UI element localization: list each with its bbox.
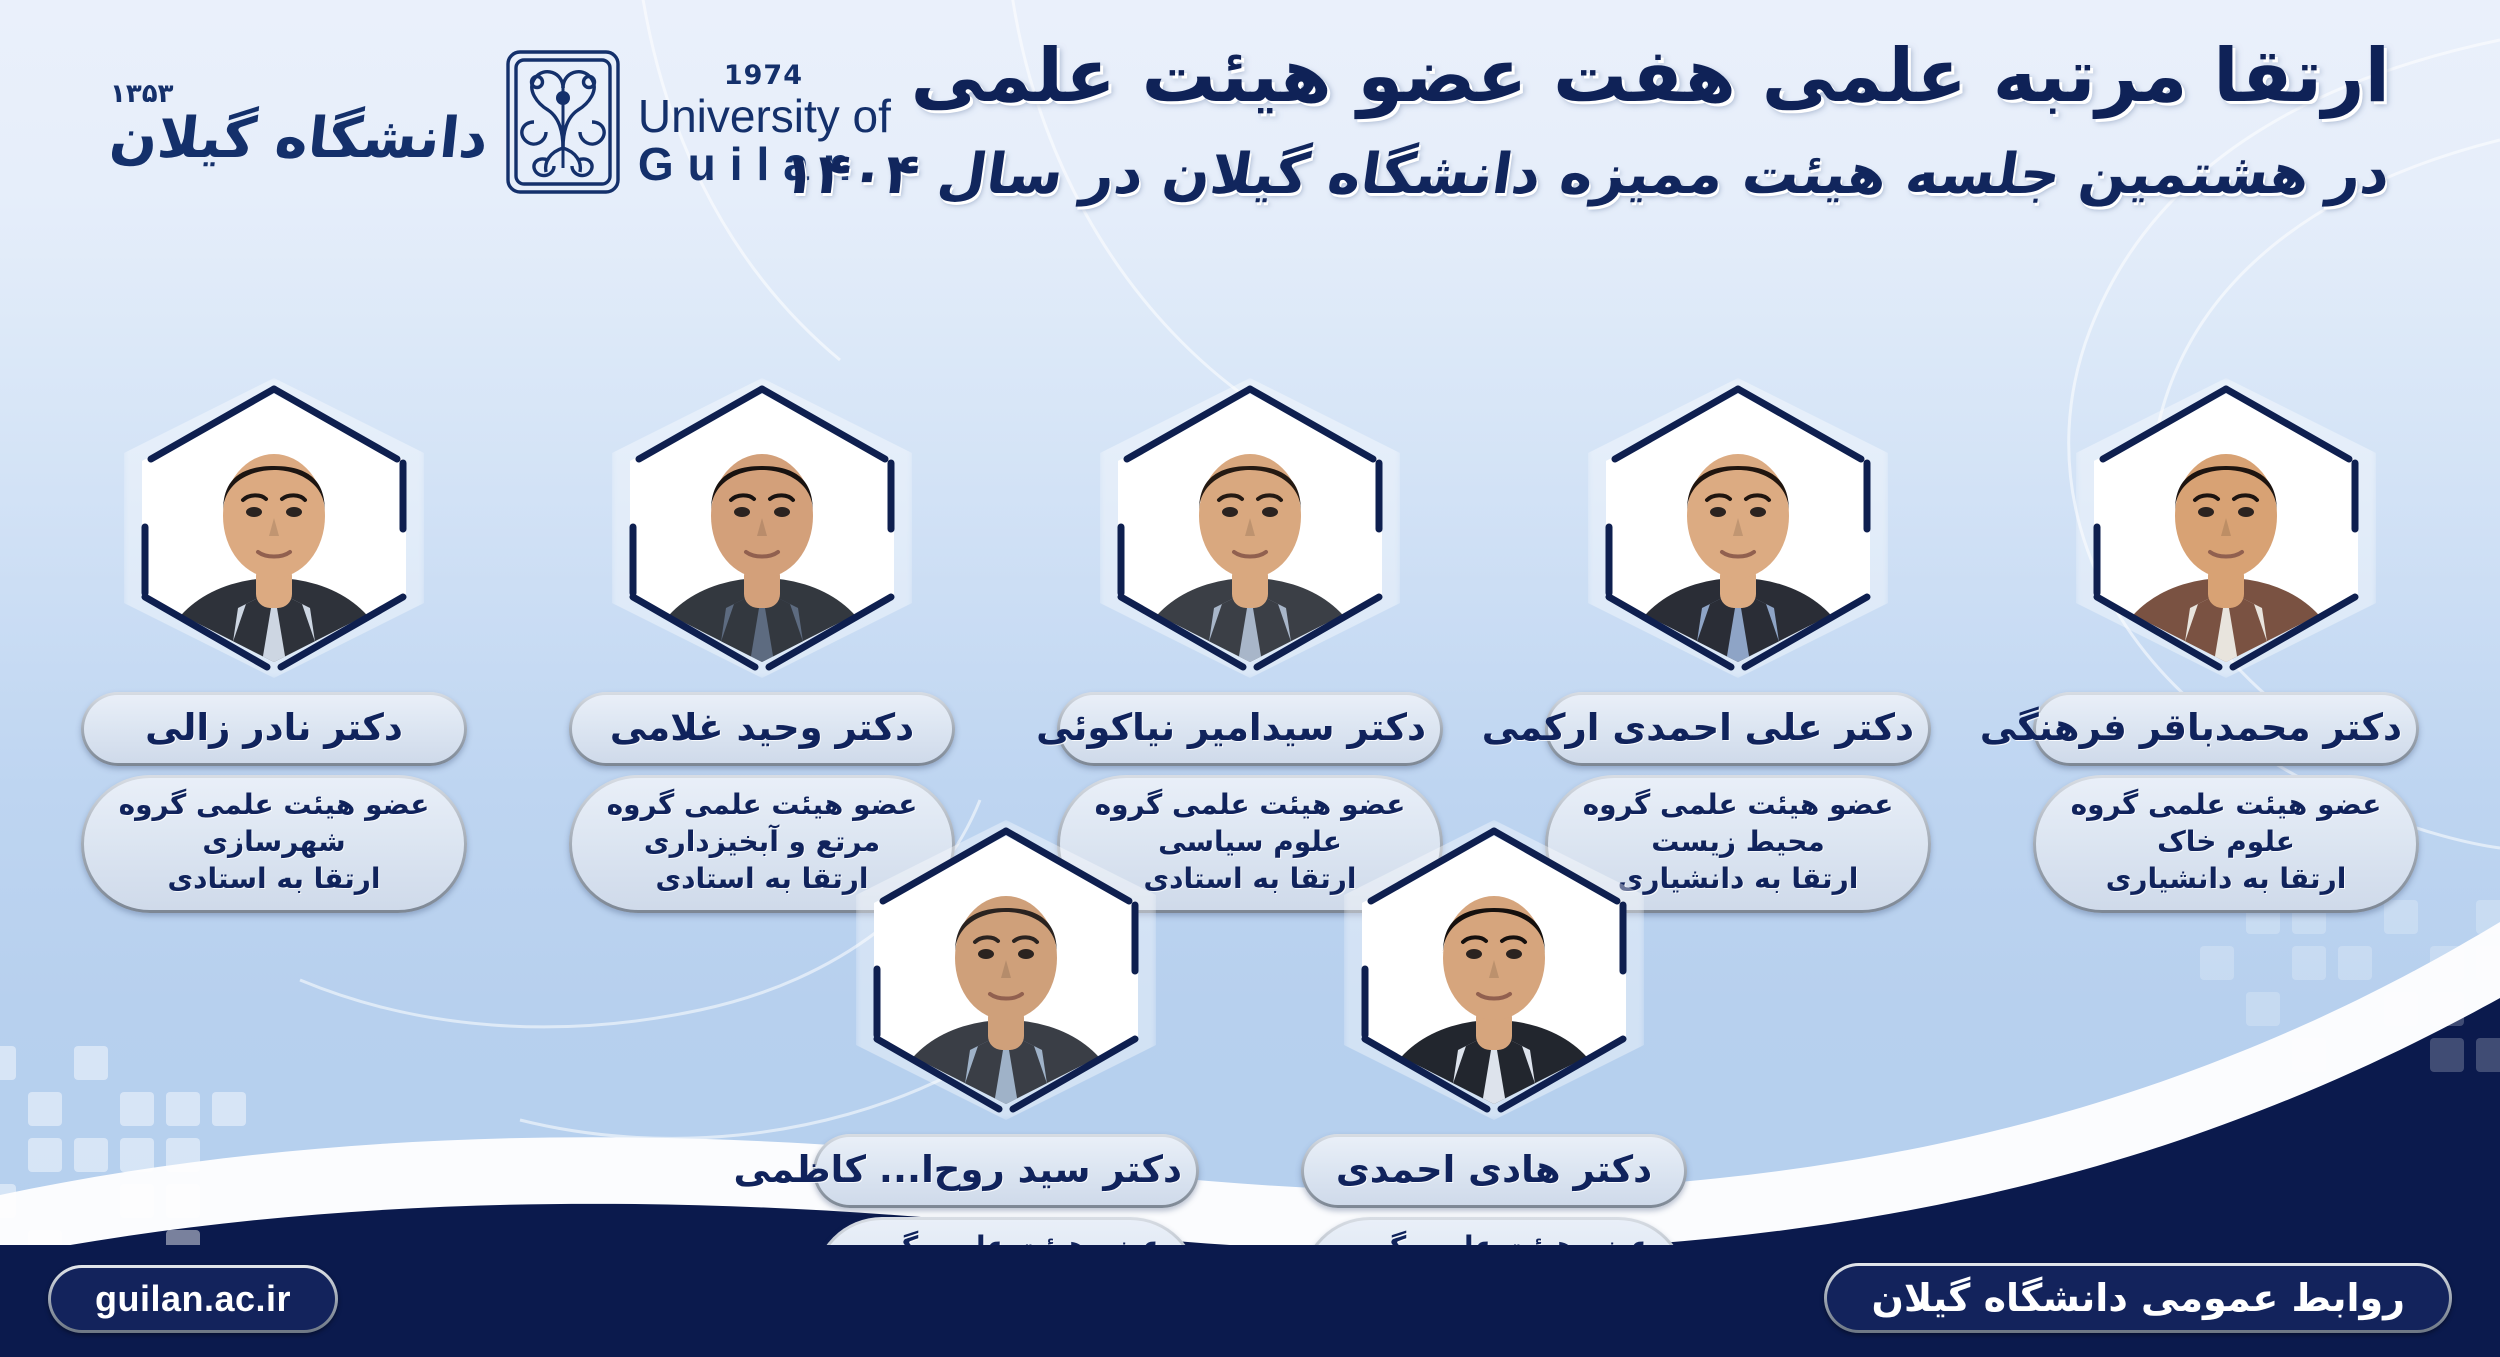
public-relations-label: روابط عمومی دانشگاه گیلان (1827, 1266, 2449, 1330)
name-plate-shell: دکتر وحید غلامی (569, 692, 955, 766)
logo-persian-text: ۱۳۵۳ دانشگاه گیلان (110, 81, 488, 167)
name-plate-shell: دکتر محمدباقر فرهنگی (2033, 692, 2419, 766)
portrait-hexagon (1588, 378, 1888, 678)
website-badge[interactable]: guilan.ac.ir (48, 1265, 338, 1333)
name-plate-shell: دکتر سیدامیر نیاکوئی (1057, 692, 1443, 766)
name-plate-wrap: دکتر وحید غلامی (569, 692, 955, 766)
portrait-hexagon (856, 820, 1156, 1120)
name-plate-wrap: دکتر هادی احمدی (1301, 1134, 1687, 1208)
portrait-hexagon (1100, 378, 1400, 678)
university-logo: 1974 University of Guilan (110, 48, 891, 200)
public-relations-badge[interactable]: روابط عمومی دانشگاه گیلان (1824, 1263, 2452, 1333)
poster-subtitle: در هشتمین جلسه هیئت ممیزه دانشگاه گیلان … (777, 139, 2395, 212)
portrait-hexagon (612, 378, 912, 678)
name-plate-wrap: دکتر علی احمدی ارکمی (1545, 692, 1931, 766)
faculty-name: دکتر محمدباقر فرهنگی (2036, 695, 2416, 763)
poster-title: ارتقا مرتبه علمی هفت عضو هیئت علمی (782, 30, 2390, 123)
faculty-name: دکتر سید روح‌ا... کاظمی (816, 1137, 1196, 1205)
portrait-hexagon (1344, 820, 1644, 1120)
name-plate-shell: دکتر نادر زالی (81, 692, 467, 766)
name-plate-wrap: دکتر نادر زالی (81, 692, 467, 766)
logo-year-fa: ۱۳۵۳ (110, 81, 173, 107)
faculty-name: دکتر علی احمدی ارکمی (1548, 695, 1928, 763)
portrait-hexagon (2076, 378, 2376, 678)
faculty-name: دکتر نادر زالی (84, 695, 464, 763)
guilan-emblem-icon (504, 48, 622, 200)
poster-header: 1974 University of Guilan (0, 0, 2500, 300)
name-plate-wrap: دکتر سید روح‌ا... کاظمی (813, 1134, 1199, 1208)
website-label: guilan.ac.ir (51, 1268, 335, 1330)
name-plate-wrap: دکتر محمدباقر فرهنگی (2033, 692, 2419, 766)
name-plate-shell: دکتر علی احمدی ارکمی (1545, 692, 1931, 766)
portrait-hexagon (124, 378, 424, 678)
faculty-name: دکتر هادی احمدی (1304, 1137, 1684, 1205)
faculty-name: دکتر سیدامیر نیاکوئی (1060, 695, 1440, 763)
poster-canvas: 1974 University of Guilan (0, 0, 2500, 1357)
name-plate-wrap: دکتر سیدامیر نیاکوئی (1057, 692, 1443, 766)
name-plate-shell: دکتر هادی احمدی (1301, 1134, 1687, 1208)
faculty-name: دکتر وحید غلامی (572, 695, 952, 763)
logo-university-name-fa: دانشگاه گیلان (107, 111, 491, 167)
title-block: ارتقا مرتبه علمی هفت عضو هیئت علمی در هش… (782, 30, 2390, 211)
name-plate-shell: دکتر سید روح‌ا... کاظمی (813, 1134, 1199, 1208)
